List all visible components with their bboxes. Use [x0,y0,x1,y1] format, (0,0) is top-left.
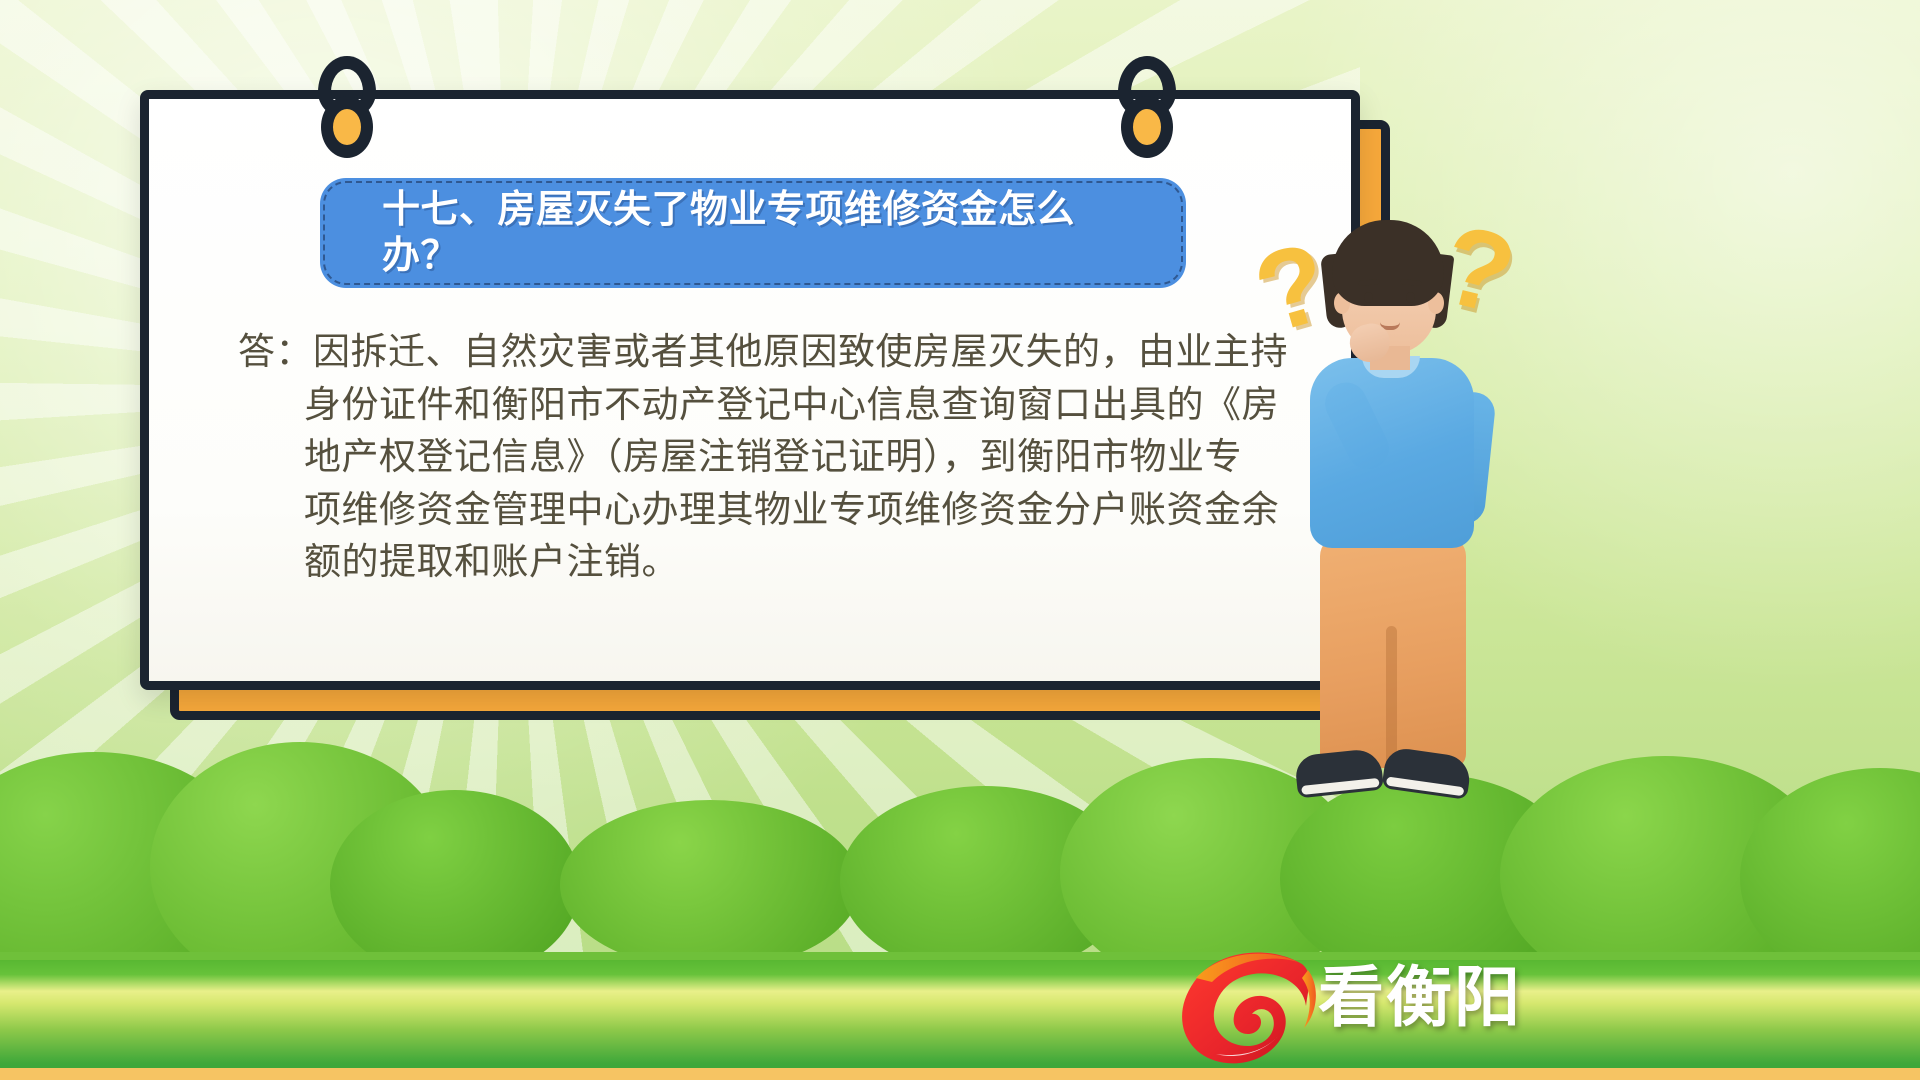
bush [560,800,860,970]
swirl-logo-icon [1172,948,1322,1066]
board-hook-right [1118,56,1176,166]
logo-text: 看衡阳 [1318,964,1522,1030]
answer-line: 身份证件和衡阳市不动产登记中心信息查询窗口出具的《房 [238,379,1258,432]
answer-line: 额的提取和账户注销。 [238,536,1258,589]
answer-line: 答：因拆迁、自然灾害或者其他原因致使房屋灭失的，由业主持 [238,326,1258,379]
infographic-canvas: 十七、房屋灭失了物业专项维修资金怎么办？ 答：因拆迁、自然灾害或者其他原因致使房… [0,0,1920,1080]
character-shoe-left [1294,748,1384,799]
character-eye-left [1364,292,1373,303]
character-hair [1332,220,1444,306]
board-hook-left [318,56,376,166]
brand-logo: 看衡阳 [1172,942,1572,1070]
title-banner: 十七、房屋灭失了物业专项维修资金怎么办？ [320,178,1186,288]
answer-body: 答：因拆迁、自然灾害或者其他原因致使房屋灭失的，由业主持 身份证件和衡阳市不动产… [238,326,1258,589]
footer-band [0,960,1920,1080]
answer-line: 地产权登记信息》（房屋注销登记证明），到衡阳市物业专 [238,431,1258,484]
page-title: 十七、房屋灭失了物业专项维修资金怎么办？ [320,187,1186,280]
character-eye-right [1406,292,1415,303]
character-pants-seam [1386,626,1397,768]
footer-top-line [0,952,1920,960]
character-illustration: ? ? [1258,196,1528,856]
hook-dot-icon [321,96,373,158]
hook-dot-icon [1121,96,1173,158]
answer-line: 项维修资金管理中心办理其物业专项维修资金分户账资金余 [238,484,1258,537]
